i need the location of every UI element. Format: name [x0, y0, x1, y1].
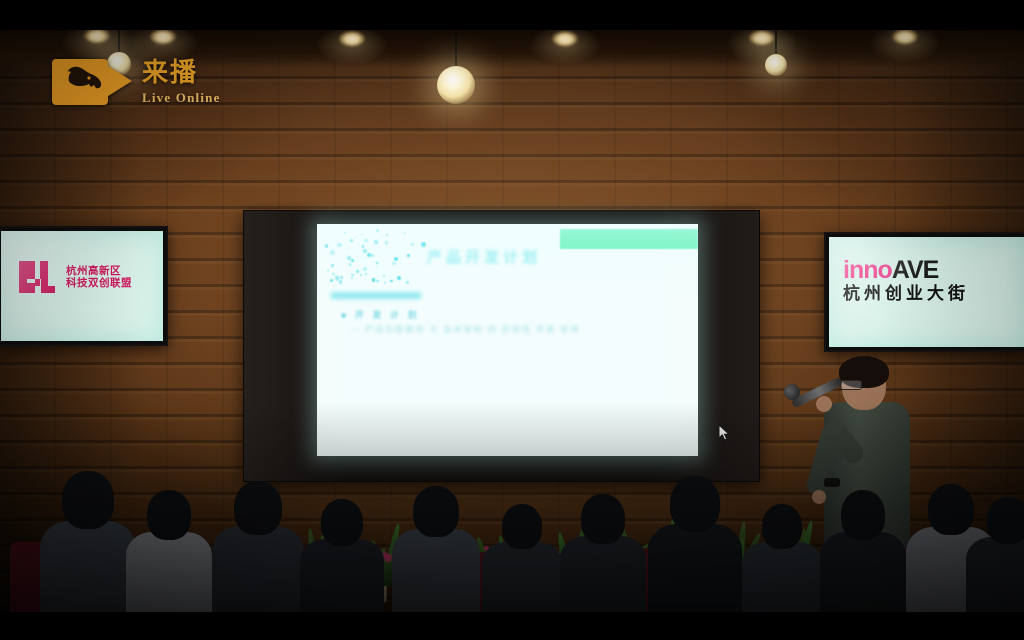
live-stream-frame: 杭州高新区 科技双创联盟 innoAVE 杭州创业大街 — [0, 0, 1024, 640]
slide-decoration-dot — [339, 280, 343, 284]
slide-decoration-dot — [362, 234, 363, 235]
audience-member-10 — [820, 508, 906, 612]
slide-decoration-dot — [325, 244, 328, 247]
slide-decoration-dot — [362, 245, 365, 248]
slide-decoration-dot — [407, 254, 410, 257]
slide-decoration-dot — [325, 235, 326, 236]
slide-bullet-1: ● 开 发 计 划 — [341, 308, 419, 321]
slide-decoration-dot — [351, 274, 353, 276]
audience-torso — [742, 542, 822, 612]
audience-member-3 — [212, 500, 304, 612]
slide-decoration-dot — [406, 281, 409, 284]
watermark-text: 来播 Live Online — [142, 60, 221, 104]
pendant-light-right-wire — [775, 30, 777, 54]
audience-member-9 — [742, 520, 822, 612]
right-display-panel: innoAVE 杭州创业大街 — [829, 237, 1024, 347]
ceiling-spot-3 — [339, 31, 365, 46]
ceiling-spot-4 — [552, 31, 578, 46]
audience-member-12 — [966, 514, 1024, 612]
slide-decoration-dot — [376, 262, 378, 264]
slide-decoration-dot — [376, 229, 380, 233]
audience-torso — [392, 529, 480, 612]
slide-decoration-dot — [397, 276, 401, 280]
slide-decoration-dot — [363, 267, 366, 270]
audience-head — [321, 499, 363, 546]
camera-lens-shape — [105, 64, 132, 98]
audience-head — [581, 494, 625, 543]
gl-logo-icon — [15, 259, 59, 295]
audience-head — [413, 486, 459, 538]
slide-decoration-dot — [383, 275, 384, 276]
slide-decoration-dot — [340, 276, 343, 279]
slide-decoration-dot — [347, 248, 349, 250]
left-display-line-2: 科技双创联盟 — [66, 277, 132, 289]
seated-audience — [0, 412, 1024, 612]
audience-torso — [966, 537, 1024, 612]
slide-decoration-dot — [330, 250, 334, 254]
slide-decoration-dot — [413, 240, 414, 241]
slide-decoration-dot — [392, 262, 395, 265]
slide-subtitle-blur — [331, 292, 421, 299]
slide-decoration-dot — [365, 273, 367, 275]
slide-decoration-dot — [344, 232, 345, 233]
audience-member-5 — [392, 504, 480, 612]
slide-decoration-dot — [386, 234, 388, 236]
audience-member-7 — [560, 512, 646, 612]
slide-decoration-dot — [412, 246, 413, 247]
slide-decoration-dot — [331, 264, 335, 268]
slide-decoration-dot — [385, 241, 388, 244]
audience-torso — [648, 524, 742, 613]
right-sponsor-display: innoAVE 杭州创业大街 — [824, 232, 1024, 352]
slide-decoration-dot — [372, 278, 375, 281]
right-display-line-2: 杭州创业大街 — [843, 283, 969, 305]
slide-decoration-dot — [367, 253, 371, 257]
audience-member-4 — [300, 516, 384, 612]
slide-decoration-dot — [337, 243, 341, 247]
slide-dot-network-decoration — [325, 228, 417, 290]
pendant-light-center — [455, 30, 456, 104]
letterbox-top — [0, 0, 1024, 30]
slide-decoration-dot — [327, 270, 328, 271]
slide-decoration-dot — [421, 242, 426, 247]
presenter-mic-hand — [816, 396, 832, 412]
audience-head — [234, 481, 282, 535]
slide-decoration-dot — [376, 266, 377, 267]
slide-decoration-dot — [355, 237, 356, 238]
audience-head — [762, 504, 802, 549]
dog-silhouette-icon — [61, 65, 103, 99]
left-display-panel: 杭州高新区 科技双创联盟 — [1, 231, 163, 341]
inno-text: inno — [843, 256, 892, 284]
audience-head — [670, 476, 720, 532]
audience-member-1 — [40, 492, 136, 612]
slide-decoration-dot — [378, 262, 380, 264]
audience-torso — [300, 539, 384, 612]
audience-head — [147, 490, 191, 539]
audience-head — [987, 497, 1024, 544]
slide-decoration-dot — [375, 242, 377, 244]
slide-accent-bar — [560, 229, 698, 249]
pendant-light-center-wire — [455, 30, 457, 66]
audience-head — [502, 504, 542, 549]
slide-decoration-dot — [347, 256, 351, 260]
left-display-text: 杭州高新区 科技双创联盟 — [66, 265, 132, 289]
slide-decoration-dot — [349, 263, 351, 265]
slide-decoration-dot — [350, 239, 353, 242]
slide-decoration-dot — [371, 254, 374, 257]
slide-decoration-dot — [374, 240, 378, 244]
slide-decoration-dot — [356, 270, 359, 273]
slide-decoration-dot — [376, 280, 378, 282]
slide-decoration-dot — [390, 280, 392, 282]
innoave-wordmark: innoAVE — [843, 257, 969, 283]
slide-decoration-dot — [384, 282, 385, 283]
slide-decoration-dot — [364, 239, 368, 243]
live-online-watermark: 来播 Live Online — [52, 56, 221, 108]
left-sponsor-display: 杭州高新区 科技双创联盟 — [0, 226, 168, 346]
pendant-light-center-globe — [437, 66, 475, 104]
watermark-title-en: Live Online — [142, 91, 221, 104]
audience-torso — [126, 532, 212, 612]
left-display-line-1: 杭州高新区 — [66, 265, 132, 277]
slide-decoration-dot — [394, 257, 398, 261]
slide-decoration-dot — [332, 273, 335, 276]
letterbox-bottom — [0, 612, 1024, 640]
audience-head — [62, 471, 114, 529]
left-display-logo: 杭州高新区 科技双创联盟 — [15, 259, 132, 295]
audience-torso — [40, 521, 136, 612]
pendant-light-right — [775, 30, 776, 76]
slide-title: 产品开发计划 — [427, 246, 541, 267]
ceiling-spot-5 — [749, 30, 775, 45]
video-camera-dog-icon — [52, 56, 134, 108]
audience-torso — [212, 526, 304, 612]
ave-text: AVE — [892, 256, 939, 284]
audience-member-6 — [482, 520, 562, 612]
audience-member-2 — [126, 508, 212, 612]
slide-decoration-dot — [363, 249, 367, 253]
right-display-logo: innoAVE 杭州创业大街 — [843, 257, 969, 305]
audience-head — [841, 490, 885, 539]
slide-decoration-dot — [335, 276, 338, 279]
slide-decoration-dot — [351, 277, 353, 279]
pendant-light-left-wire — [118, 30, 120, 52]
slide-decoration-dot — [351, 259, 354, 262]
audience-member-8 — [648, 496, 742, 612]
watermark-title-cn: 来播 — [142, 60, 221, 86]
slide-bullet-2: — 产品功能模块 与 技术架构 的 阶段性 开发 安排 — [351, 324, 581, 335]
slide-decoration-dot — [360, 274, 363, 277]
slide-decoration-dot — [404, 232, 406, 234]
slide-decoration-dot — [336, 278, 339, 281]
slide-decoration-dot — [330, 279, 333, 282]
slide-decoration-dot — [400, 263, 401, 264]
slide-decoration-dot — [411, 243, 414, 246]
pendant-light-right-globe — [765, 54, 787, 76]
audience-torso — [482, 542, 562, 612]
auditorium-background: 杭州高新区 科技双创联盟 innoAVE 杭州创业大街 — [0, 30, 1024, 612]
audience-torso — [820, 532, 906, 612]
audience-torso — [560, 536, 646, 612]
presenter-glasses — [840, 380, 862, 390]
